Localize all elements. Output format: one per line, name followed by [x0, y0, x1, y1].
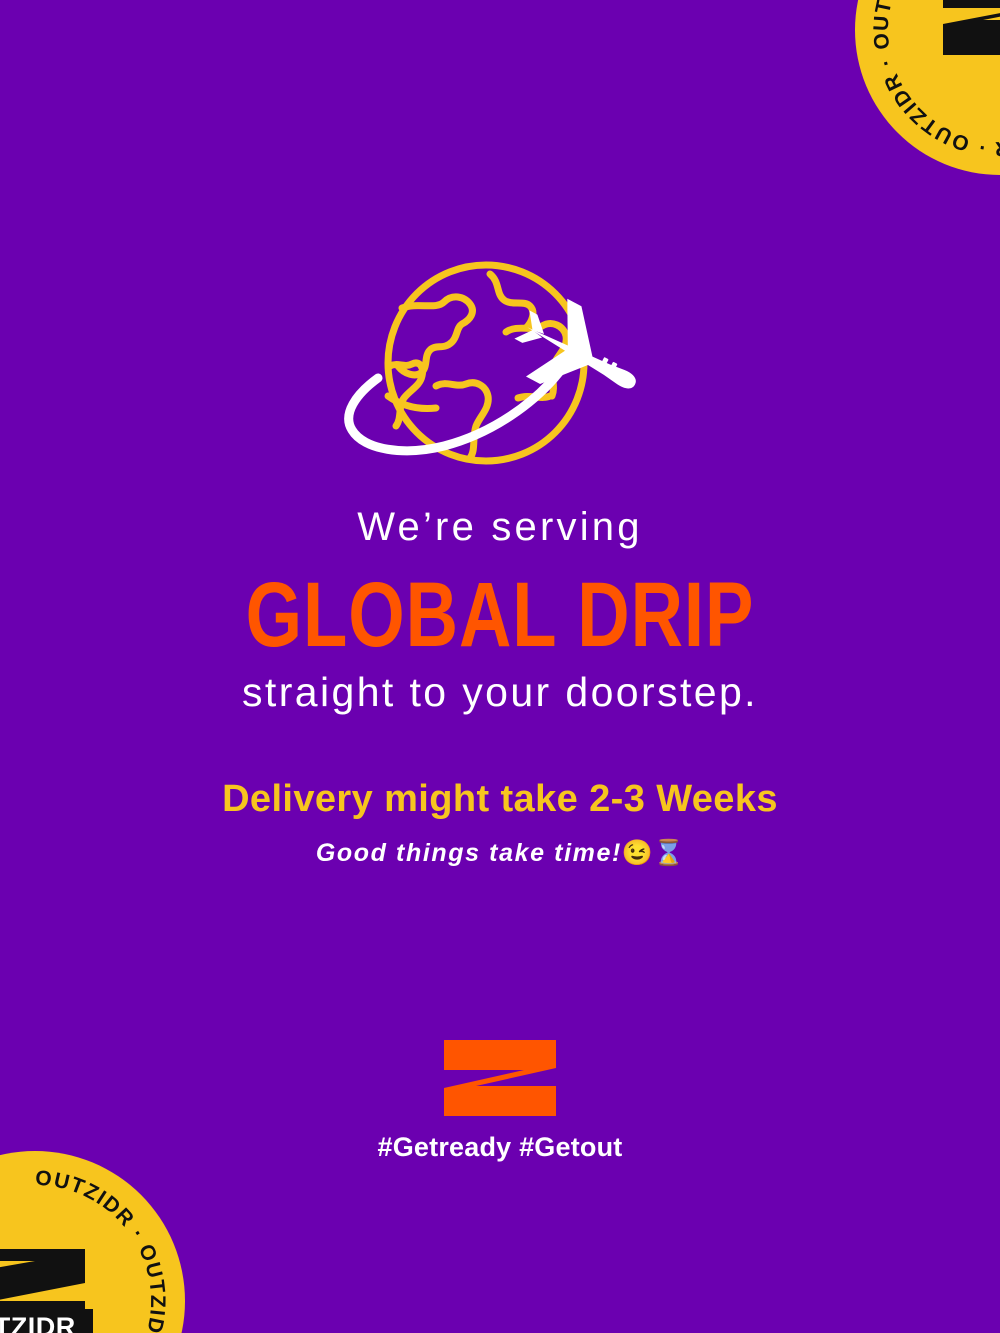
tagline: Good things take time!😉⌛: [0, 838, 1000, 868]
badge-wordmark: OUTZIDR: [0, 1309, 93, 1333]
svg-text:OUTZIDR: OUTZIDR: [0, 1312, 76, 1333]
hashtags: #Getready #Getout: [0, 1132, 1000, 1163]
outzidr-badge-top-right: OUTZIDR · OUTZIDR · OUTZIDR · OUTZIDR · …: [855, 0, 1000, 175]
outzidr-badge-bottom-left: OUTZIDR · OUTZIDR · OUTZIDR · OUTZIDR · …: [0, 1151, 185, 1333]
badge-z-mark: [0, 1249, 85, 1311]
tagline-emoji: 😉⌛: [622, 839, 684, 867]
marketing-copy-block: We’re serving GLOBAL DRIP straight to yo…: [0, 505, 1000, 868]
serving-line: We’re serving: [0, 505, 1000, 549]
outzidr-z-logo: [442, 1038, 558, 1118]
globe-airplane-icon: [340, 258, 660, 470]
delivery-notice: Delivery might take 2-3 Weeks: [0, 779, 1000, 821]
badge-z-mark: [943, 0, 1000, 55]
doorstep-line: straight to your doorstep.: [0, 670, 1000, 715]
headline-global-drip: GLOBAL DRIP: [35, 568, 965, 660]
footer-block: #Getready #Getout: [0, 1038, 1000, 1163]
tagline-text: Good things take time!: [316, 839, 622, 867]
